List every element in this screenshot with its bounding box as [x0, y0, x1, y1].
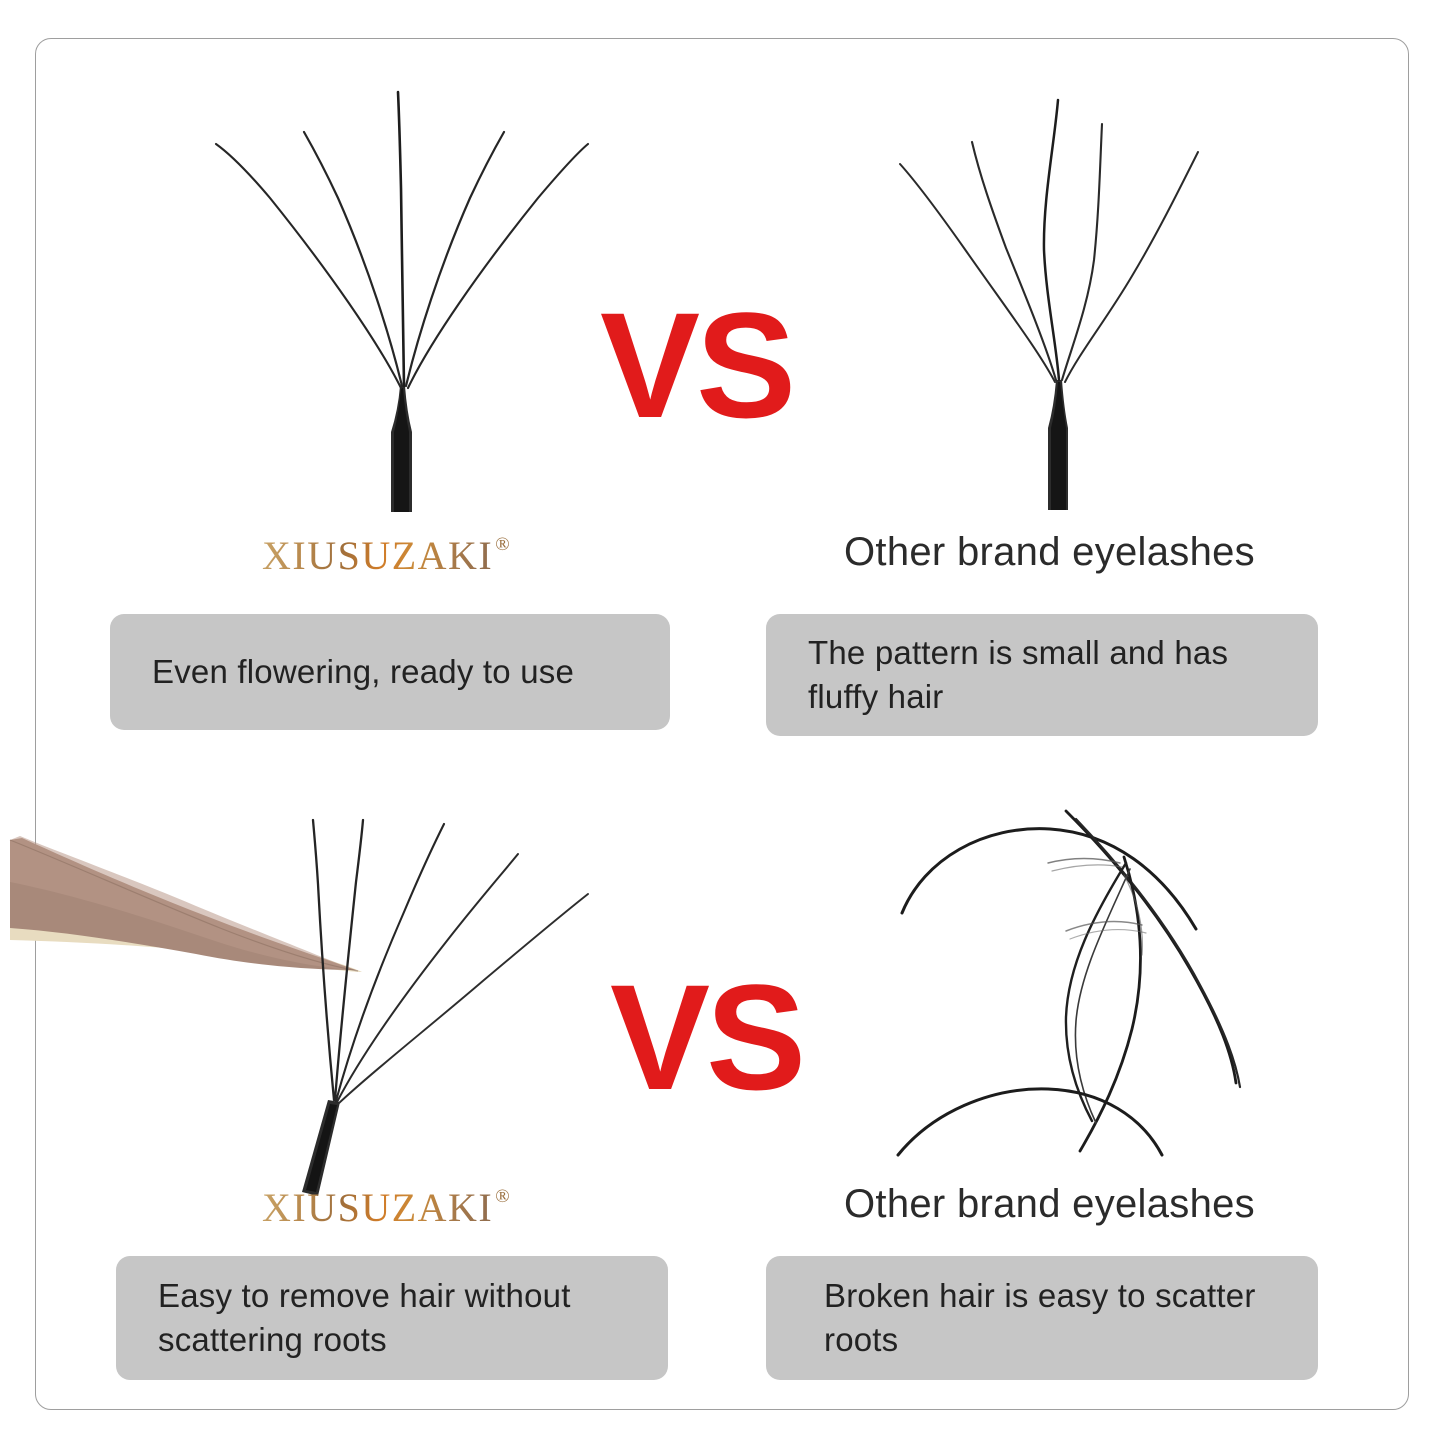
caption-text: Even flowering, ready to use	[110, 650, 616, 694]
brand-name-text: XIUSUZAKI	[262, 532, 493, 579]
registered-trademark-icon: ®	[495, 1186, 509, 1208]
caption-pill-top-right: The pattern is small and has fluffy hair	[766, 614, 1318, 736]
lash-fan-other-brand-illustration	[888, 80, 1228, 520]
comparison-infographic: VS XIUSUZAKI ® Other brand eyelashes Eve…	[0, 0, 1445, 1445]
tweezer-with-lash-fan-illustration	[10, 820, 630, 1200]
brand-label-top: XIUSUZAKI ®	[262, 532, 510, 579]
caption-pill-bottom-right: Broken hair is easy to scatter roots	[766, 1256, 1318, 1380]
caption-text: Easy to remove hair without scattering r…	[116, 1274, 668, 1361]
tangled-broken-lashes-illustration	[880, 805, 1280, 1175]
caption-text: Broken hair is easy to scatter roots	[766, 1274, 1318, 1361]
lash-fan-even-illustration	[208, 80, 588, 520]
registered-trademark-icon: ®	[495, 534, 509, 556]
caption-text: The pattern is small and has fluffy hair	[766, 631, 1318, 718]
brand-label-bottom: XIUSUZAKI ®	[262, 1184, 510, 1231]
caption-pill-top-left: Even flowering, ready to use	[110, 614, 670, 730]
other-brand-label-bottom: Other brand eyelashes	[844, 1182, 1255, 1227]
caption-pill-bottom-left: Easy to remove hair without scattering r…	[116, 1256, 668, 1380]
vs-divider-top: VS	[600, 290, 792, 440]
vs-divider-bottom: VS	[610, 962, 802, 1112]
other-brand-label-top: Other brand eyelashes	[844, 530, 1255, 575]
brand-name-text: XIUSUZAKI	[262, 1184, 493, 1231]
